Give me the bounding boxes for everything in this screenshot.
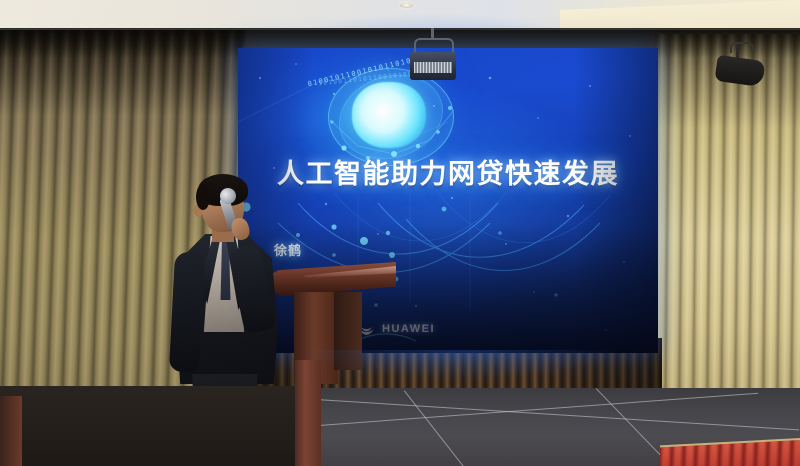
light-grill-icon bbox=[414, 62, 452, 73]
ceiling-downlight-icon bbox=[400, 3, 413, 8]
curtain-pleats bbox=[655, 34, 800, 424]
light-body bbox=[714, 55, 765, 87]
stage-light-fixture-right bbox=[716, 48, 766, 88]
stage-curtain-right bbox=[655, 34, 800, 424]
arm-left bbox=[169, 251, 205, 372]
conference-presentation-photo: 01001011001010110100101 1010011010110010… bbox=[0, 0, 800, 466]
screen-light-spill bbox=[250, 350, 670, 420]
light-hook bbox=[730, 42, 754, 53]
stage-light-fixture-center bbox=[404, 38, 460, 86]
stage-side-pillar-left bbox=[0, 396, 22, 466]
